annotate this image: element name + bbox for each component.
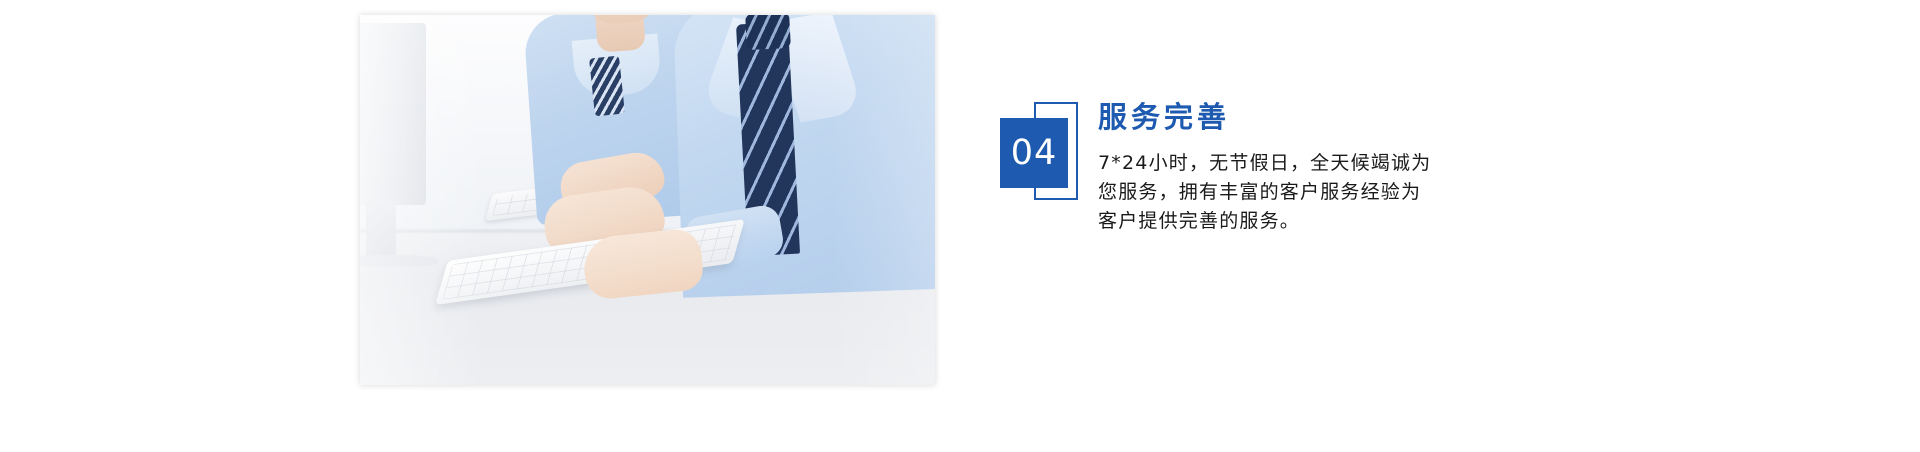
photo-monitor-body [360,23,426,205]
badge-number-label: 04 [1011,136,1058,171]
feature-description-line-1: 7*24小时，无节假日，全天候竭诚为 [1098,149,1518,178]
feature-text-column: 服务完善 7*24小时，无节假日，全天候竭诚为 您服务，拥有丰富的客户服务经验为… [1098,100,1518,236]
feature-number-badge: 04 [1000,118,1072,188]
badge-filled-square: 04 [1000,118,1068,188]
feature-banner: 04 服务完善 7*24小时，无节假日，全天候竭诚为 您服务，拥有丰富的客户服务… [0,0,1920,452]
photo-monitor-base [360,255,438,267]
photo-person-back-tie [589,56,625,117]
feature-title: 服务完善 [1098,100,1518,135]
call-center-agents-at-computers-photo [360,15,935,385]
feature-content: 04 服务完善 7*24小时，无节假日，全天候竭诚为 您服务，拥有丰富的客户服务… [1000,100,1620,300]
photo-person-front-tie-knot [745,15,791,50]
photo-monitor-stand [366,201,396,259]
feature-description-line-3: 客户提供完善的服务。 [1098,207,1518,236]
feature-description: 7*24小时，无节假日，全天候竭诚为 您服务，拥有丰富的客户服务经验为 客户提供… [1098,149,1518,236]
feature-photo-frame [360,15,935,385]
feature-description-line-2: 您服务，拥有丰富的客户服务经验为 [1098,178,1518,207]
